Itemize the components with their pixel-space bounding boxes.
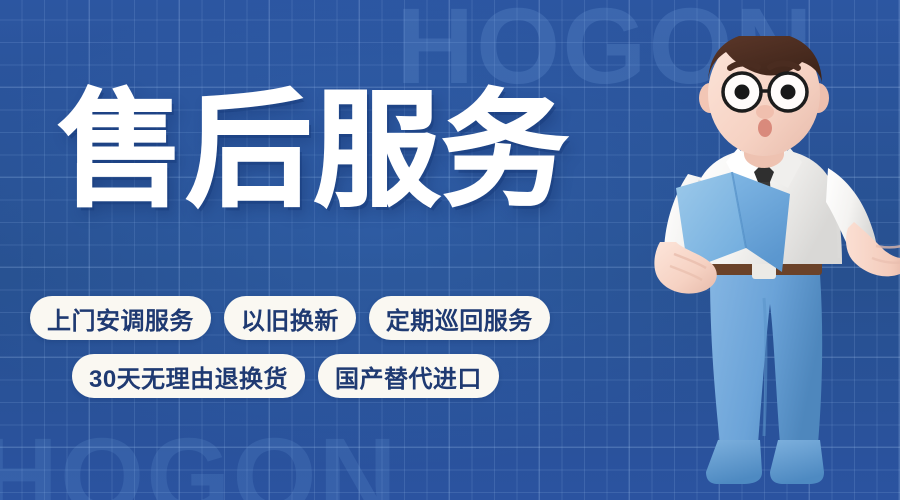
banner-root: HOGON HOGON 售后服务 上门安调服务 以旧换新 定期巡回服务 30天无… [0, 0, 900, 500]
feature-pill-onsite-install[interactable]: 上门安调服务 [30, 296, 211, 340]
feature-pill-regular-inspection[interactable]: 定期巡回服务 [369, 296, 550, 340]
feature-pill-row-1: 上门安调服务 以旧换新 定期巡回服务 [30, 296, 650, 340]
character-shoes [706, 440, 824, 484]
character-head [699, 36, 829, 156]
feature-pill-domestic-substitute[interactable]: 国产替代进口 [318, 354, 499, 398]
businessman-illustration [614, 36, 900, 500]
feature-pill-30day-return[interactable]: 30天无理由退换货 [72, 354, 305, 398]
feature-pill-trade-in[interactable]: 以旧换新 [224, 296, 356, 340]
feature-pill-row-2: 30天无理由退换货 国产替代进口 [30, 354, 650, 398]
page-title: 售后服务 [58, 88, 570, 214]
feature-pill-group: 上门安调服务 以旧换新 定期巡回服务 30天无理由退换货 国产替代进口 [30, 296, 650, 412]
character-legs [710, 274, 822, 444]
